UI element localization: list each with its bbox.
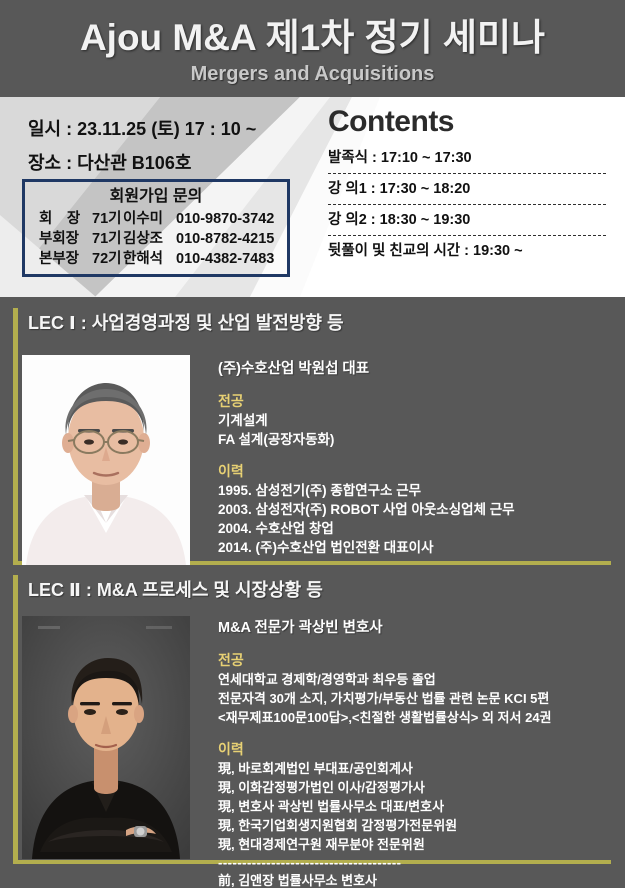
poster-header: Ajou M&A 제1차 정기 세미나 Mergers and Acquisit…	[0, 0, 625, 97]
contact-phone: 010-4382-7483	[176, 249, 274, 269]
lecture-1-heading: LEC Ⅰ : 사업경영과정 및 산업 발전방향 등	[13, 307, 344, 337]
speaker-2-major-line: <재무제표100문100답>,<친절한 생활법률상식> 외 저서 24권	[218, 708, 618, 727]
speaker-1-major-line: FA 설계(공장자동화)	[218, 430, 613, 449]
lecture-section-1: LEC Ⅰ : 사업경영과정 및 산업 발전방향 등	[0, 307, 625, 572]
agenda-item: 발족식 : 17:10 ~ 17:30	[328, 145, 613, 167]
contact-phone: 010-8782-4215	[176, 229, 274, 249]
speaker-2-major-line: 연세대학교 경제학/경영학과 최우등 졸업	[218, 670, 618, 689]
event-location: 장소 : 다산관 B106호	[28, 149, 191, 175]
speaker-1-name: (주)수호산업 박원섭 대표	[218, 359, 613, 379]
speaker-1-career-line: 1995. 삼성전기(주) 종합연구소 근무	[218, 481, 613, 500]
speaker-1-career-line: 2004. 수호산업 창업	[218, 519, 613, 538]
info-panel: 일시 : 23.11.25 (토) 17 : 10 ~ 장소 : 다산관 B10…	[0, 97, 625, 297]
contact-name: 이수미	[123, 209, 171, 229]
page-subtitle: Mergers and Acquisitions	[0, 60, 625, 86]
contents-title: Contents	[328, 105, 454, 139]
contact-name: 김상조	[123, 229, 171, 249]
speaker-2-career-line: 現, 한국기업회생지원협회 감정평가전문위원	[218, 816, 618, 835]
speaker-1-career-label: 이력	[218, 462, 613, 481]
membership-contact-box: 회원가입 문의 회 장 71기 이수미 010-9870-3742 부회장 71…	[22, 179, 290, 277]
speaker-1-details: (주)수호산업 박원섭 대표 전공 기계설계 FA 설계(공장자동화) 이력 1…	[218, 359, 613, 557]
lecture-2-heading-text: LEC Ⅱ : M&A 프로세스 및 시장상황 등	[28, 576, 323, 602]
agenda-divider	[328, 235, 606, 236]
accent-bar-icon	[13, 575, 18, 603]
contact-class: 71기	[92, 209, 118, 229]
agenda-divider	[328, 173, 606, 174]
contact-class: 72기	[92, 249, 118, 269]
speaker-1-career-line: 2014. (주)수호산업 법인전환 대표이사	[218, 538, 613, 557]
speaker-1-major-label: 전공	[218, 392, 613, 411]
contact-box-title: 회원가입 문의	[25, 187, 287, 207]
speaker-2-major-line: 전문자격 30개 소지, 가치평가/부동산 법률 관련 논문 KCI 5편	[218, 689, 618, 708]
speaker-2-major-label: 전공	[218, 651, 618, 670]
contact-role: 부회장	[39, 229, 87, 249]
speaker-2-career-label: 이력	[218, 740, 618, 759]
event-details-column: 일시 : 23.11.25 (토) 17 : 10 ~ 장소 : 다산관 B10…	[0, 97, 312, 297]
speaker-2-career-line: 現, 변호사 곽상빈 법률사무소 대표/변호사	[218, 797, 618, 816]
agenda-item: 뒷풀이 및 친교의 시간 : 19:30 ~	[328, 238, 613, 260]
seminar-poster: Ajou M&A 제1차 정기 세미나 Mergers and Acquisit…	[0, 0, 625, 888]
lecture-section-2: LEC Ⅱ : M&A 프로세스 및 시장상황 등	[0, 574, 625, 874]
speaker-1-career-line: 2003. 삼성전자(주) ROBOT 사업 아웃소싱업체 근무	[218, 500, 613, 519]
contact-row: 본부장 72기 한해석 010-4382-7483	[39, 249, 287, 269]
lecture-1-heading-text: LEC Ⅰ : 사업경영과정 및 산업 발전방향 등	[28, 309, 344, 335]
contact-phone: 010-9870-3742	[176, 209, 274, 229]
contact-class: 71기	[92, 229, 118, 249]
speaker-1-portrait-graphic	[22, 355, 190, 565]
speaker-2-career-line: 現, 바로회계법인 부대표/공인회계사	[218, 759, 618, 778]
agenda-list: 발족식 : 17:10 ~ 17:30 강 의1 : 17:30 ~ 18:20…	[328, 145, 613, 260]
speaker-2-photo	[22, 616, 190, 859]
speaker-1-major-line: 기계설계	[218, 411, 613, 430]
speaker-1-photo	[22, 355, 190, 565]
speaker-2-career-line: 現, 현대경제연구원 재무분야 전문위원	[218, 835, 618, 854]
contact-role: 본부장	[39, 249, 87, 269]
career-divider: --------------------------------------	[218, 854, 618, 871]
agenda-divider	[328, 204, 606, 205]
agenda-item: 강 의2 : 18:30 ~ 19:30	[328, 207, 613, 229]
agenda-item: 강 의1 : 17:30 ~ 18:20	[328, 176, 613, 198]
speaker-2-details: M&A 전문가 곽상빈 변호사 전공 연세대학교 경제학/경영학과 최우등 졸업…	[218, 618, 618, 888]
contact-row: 회 장 71기 이수미 010-9870-3742	[39, 209, 287, 229]
speaker-2-career-line: 現, 이화감정평가법인 이사/감정평가사	[218, 778, 618, 797]
speaker-2-portrait-graphic	[22, 616, 190, 859]
accent-bar-icon	[13, 308, 18, 336]
contact-role: 회 장	[39, 209, 87, 229]
contents-column: Contents 발족식 : 17:10 ~ 17:30 강 의1 : 17:3…	[312, 97, 625, 297]
contact-name: 한해석	[123, 249, 171, 269]
event-datetime: 일시 : 23.11.25 (토) 17 : 10 ~	[28, 115, 256, 141]
lecture-2-heading: LEC Ⅱ : M&A 프로세스 및 시장상황 등	[13, 574, 323, 604]
page-title: Ajou M&A 제1차 정기 세미나	[0, 0, 625, 60]
speaker-2-name: M&A 전문가 곽상빈 변호사	[218, 618, 618, 638]
contact-list: 회 장 71기 이수미 010-9870-3742 부회장 71기 김상조 01…	[25, 209, 287, 269]
speaker-2-career-line: 前, 김앤장 법률사무소 변호사	[218, 871, 618, 888]
contact-row: 부회장 71기 김상조 010-8782-4215	[39, 229, 287, 249]
